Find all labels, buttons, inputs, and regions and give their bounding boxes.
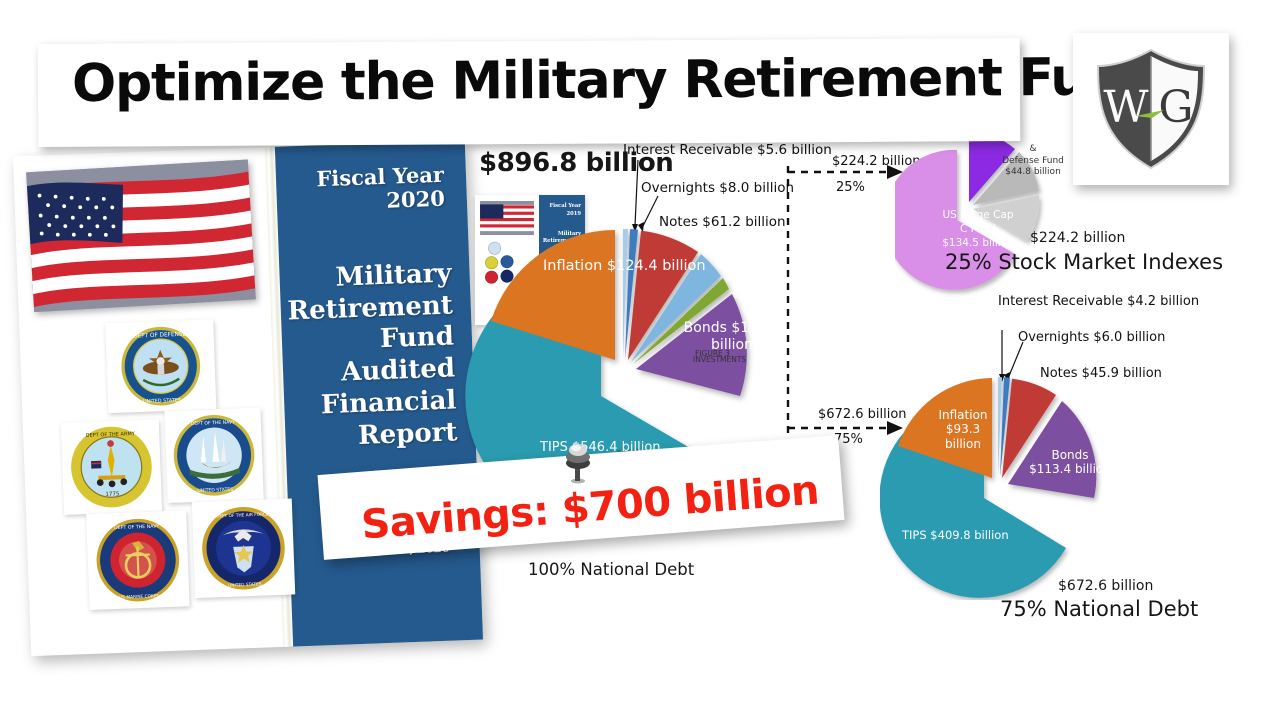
svg-text:INVESTMENTS: INVESTMENTS	[693, 355, 746, 364]
wg-shield-logo: W G	[1090, 44, 1212, 174]
chart-reduced-total: $672.6 billion	[1058, 578, 1153, 594]
seal-united-states-marine-corps: DEPT OF THE NAVY US MARINE CORPS	[86, 510, 189, 610]
logo-letter-g: G	[1158, 82, 1193, 133]
seal-department-of-the-navy: DEPT OF THE NAVY UNITED STATES	[164, 408, 263, 503]
seal-department-of-defense: DEPT OF DEFENSE UNITED STATES	[105, 319, 216, 413]
logo-letter-w: W	[1103, 82, 1149, 133]
svg-text:UNITED STATES: UNITED STATES	[143, 398, 181, 405]
slide-canvas: DEPT OF DEFENSE UNITED STATES DEPT OF TH…	[0, 0, 1280, 720]
military-retirement-report-spread: DEPT OF DEFENSE UNITED STATES DEPT OF TH…	[13, 140, 483, 656]
arrow-label-percent-25: 25%	[836, 180, 865, 195]
page-title: Optimize the Military Retirement Fund	[72, 48, 1032, 114]
chart-reduced-national-debt: Interest Receivable $4.2 billion Overnig…	[880, 330, 1130, 595]
cover-main-title: Military Retirement Fund Audited Financi…	[276, 258, 458, 455]
chart-reduced-caption: 75% National Debt	[1000, 597, 1198, 621]
cover-fiscal-year-line2: 2020	[386, 185, 445, 212]
slice-label-bonds-text: Bonds $151.2 billion	[684, 320, 781, 353]
slice-label-inflation-75: Inflation$93.3billion	[924, 408, 1002, 451]
slice-label-inflation: Inflation $124.4 billion	[543, 258, 706, 275]
slice-label-bonds: Bonds $151.2 billion	[677, 320, 787, 354]
chart-current-caption: 100% National Debt	[528, 560, 694, 579]
callout-interest-receivable-75: Interest Receivable $4.2 billion	[998, 294, 1199, 309]
seal-department-of-the-army: DEPT OF THE ARMY 1775	[61, 419, 162, 515]
slice-label-defense-fund: &Defense Fund$44.8 billion	[993, 144, 1073, 179]
push-pin-icon	[558, 437, 598, 485]
slice-label-us-large-cap: US Large CapC Fund$134.5 billion	[923, 208, 1033, 251]
slice-label-inflation-text: Inflation $124.4 billion	[543, 258, 706, 274]
slice-label-bonds-75: Bonds$113.4 billion	[1025, 448, 1115, 477]
seal-department-of-the-air-force: DEPT OF THE AIR FORCE UNITED STATES	[192, 498, 295, 598]
slice-label-tips-75: TIPS $409.8 billion	[902, 528, 1009, 542]
svg-text:1775: 1775	[105, 491, 119, 498]
chart-stock-total: $224.2 billion	[1030, 230, 1125, 246]
us-flag-photo	[26, 160, 256, 313]
chart-stock-caption: 25% Stock Market Indexes	[945, 250, 1223, 274]
cover-fiscal-year: Fiscal Year 2020	[274, 163, 446, 216]
slice-label-tips-75-text: TIPS $409.8 billion	[902, 528, 1009, 542]
